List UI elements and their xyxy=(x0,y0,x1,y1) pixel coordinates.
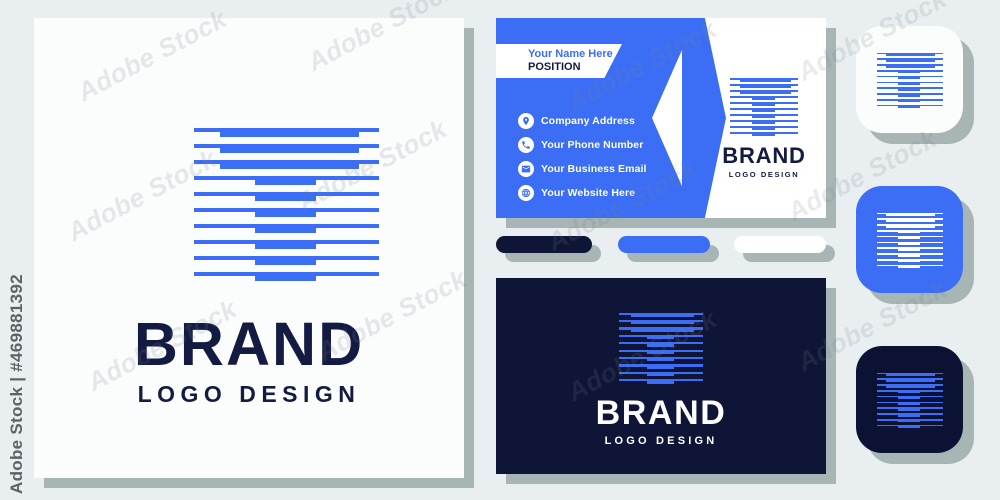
logo-bar-segment xyxy=(255,224,316,233)
logo-bar-segment xyxy=(886,219,936,222)
logo-bar-segment xyxy=(898,93,920,96)
logo-bar-segment xyxy=(898,396,920,399)
logo-bar-segment xyxy=(886,373,936,376)
logo-bar-segment xyxy=(898,425,920,428)
striped-t-mark xyxy=(877,211,943,269)
logo-bar-segment xyxy=(898,402,920,405)
phone-icon xyxy=(518,137,534,153)
logo-bar-segment xyxy=(647,365,675,369)
logo-bar-segment xyxy=(740,78,791,81)
contact-list: Company AddressYour Phone NumberYour Bus… xyxy=(518,110,698,206)
contact-label: Your Business Email xyxy=(541,163,647,175)
envelope-icon xyxy=(518,161,534,177)
brand-title: BRAND xyxy=(496,396,826,430)
brand-title: BRAND xyxy=(34,314,464,375)
logo-bar-segment xyxy=(752,126,774,129)
contact-label: Company Address xyxy=(541,115,635,127)
main-logo-panel[interactable]: BRAND LOGO DESIGN xyxy=(34,18,464,478)
logo-bar-segment xyxy=(898,99,920,102)
logo-bar-segment xyxy=(220,144,359,153)
logo-bar-segment xyxy=(647,350,675,354)
contact-row[interactable]: Company Address xyxy=(518,110,698,132)
logo-bar-segment xyxy=(647,372,675,376)
contact-label: Your Website Here xyxy=(541,187,635,199)
logo-bar-segment xyxy=(898,230,920,233)
swatch-fill xyxy=(496,236,592,253)
logo-bar-segment xyxy=(752,102,774,105)
logo-bar-segment xyxy=(255,176,316,185)
logo-bar-segment xyxy=(647,357,675,361)
card-name: Your Name Here xyxy=(528,48,622,61)
logo-bar-segment xyxy=(647,335,675,339)
logo-bar-segment xyxy=(631,328,694,332)
logo-bar-segment xyxy=(220,160,359,169)
swatch-fill xyxy=(618,236,710,253)
striped-t-mark xyxy=(730,76,798,136)
tile-face xyxy=(856,186,963,293)
logo-bar-segment xyxy=(752,132,774,135)
logo-bar-segment xyxy=(898,390,920,393)
logo-bar-segment xyxy=(255,272,316,281)
blue-swatch[interactable] xyxy=(618,236,710,262)
logo-bar-segment xyxy=(752,96,774,99)
adobe-stock-watermark: Adobe Stock | #469881392 xyxy=(0,0,34,500)
dark-card-wordmark: BRAND LOGO DESIGN xyxy=(496,396,826,447)
swatch-fill xyxy=(734,236,826,253)
blue-tile[interactable] xyxy=(856,186,974,304)
dark-logo-card[interactable]: BRAND LOGO DESIGN xyxy=(496,278,826,474)
tile-face xyxy=(856,26,963,133)
logo-bar-segment xyxy=(898,408,920,411)
striped-t-mark xyxy=(877,51,943,109)
logo-bar-segment xyxy=(255,208,316,217)
logo-bar-segment xyxy=(647,342,675,346)
brand-tagline: LOGO DESIGN xyxy=(34,381,464,408)
brand-tagline: LOGO DESIGN xyxy=(718,170,810,179)
logo-bar-segment xyxy=(255,240,316,249)
navy-tile[interactable] xyxy=(856,346,974,464)
logo-bar-segment xyxy=(647,379,675,383)
logo-bar-segment xyxy=(255,192,316,201)
white-swatch[interactable] xyxy=(734,236,826,262)
logo-bar-segment xyxy=(740,84,791,87)
logo-bar-segment xyxy=(898,419,920,422)
logo-bar-segment xyxy=(886,59,936,62)
logo-bar-segment xyxy=(898,253,920,256)
logo-bar-segment xyxy=(255,256,316,265)
business-card[interactable]: Your Name Here POSITION Company AddressY… xyxy=(496,18,826,218)
logo-bar-segment xyxy=(886,64,936,67)
striped-t-mark xyxy=(877,371,943,429)
contact-row[interactable]: Your Business Email xyxy=(518,158,698,180)
logo-bar-segment xyxy=(631,320,694,324)
main-wordmark: BRAND LOGO DESIGN xyxy=(34,314,464,408)
logo-bar-segment xyxy=(752,120,774,123)
logo-bar-segment xyxy=(886,224,936,227)
logo-bar-segment xyxy=(220,128,359,137)
logo-bar-segment xyxy=(898,76,920,79)
color-swatch-row xyxy=(496,236,836,262)
logo-bar-segment xyxy=(898,248,920,251)
logo-bar-segment xyxy=(898,70,920,73)
logo-bar-segment xyxy=(898,242,920,245)
logo-bar-segment xyxy=(886,379,936,382)
watermark-strip: Adobe Stock | #469881392 xyxy=(0,0,34,500)
logo-bar-segment xyxy=(752,114,774,117)
brand-title: BRAND xyxy=(718,145,810,167)
striped-t-mark xyxy=(194,122,379,282)
logo-bar-segment xyxy=(898,413,920,416)
logo-bar-segment xyxy=(898,82,920,85)
logo-bar-segment xyxy=(740,90,791,93)
logo-bar-segment xyxy=(898,259,920,262)
logo-bar-segment xyxy=(898,105,920,108)
location-pin-icon xyxy=(518,113,534,129)
business-card-logo: BRAND LOGO DESIGN xyxy=(718,76,810,179)
globe-icon xyxy=(518,185,534,201)
logo-bar-segment xyxy=(898,265,920,268)
logo-bar-segment xyxy=(752,108,774,111)
contact-row[interactable]: Your Phone Number xyxy=(518,134,698,156)
contact-row[interactable]: Your Website Here xyxy=(518,182,698,204)
navy-swatch[interactable] xyxy=(496,236,592,262)
logo-bar-segment xyxy=(898,88,920,91)
striped-t-mark xyxy=(619,310,703,384)
contact-label: Your Phone Number xyxy=(541,139,643,151)
logo-bar-segment xyxy=(886,213,936,216)
tile-face xyxy=(856,346,963,453)
logo-bar-segment xyxy=(886,384,936,387)
logo-bar-segment xyxy=(631,313,694,317)
logo-bar-segment xyxy=(898,236,920,239)
logo-bar-segment xyxy=(886,53,936,56)
white-tile[interactable] xyxy=(856,26,974,144)
name-banner: Your Name Here POSITION xyxy=(496,44,622,78)
brand-tagline: LOGO DESIGN xyxy=(496,435,826,447)
